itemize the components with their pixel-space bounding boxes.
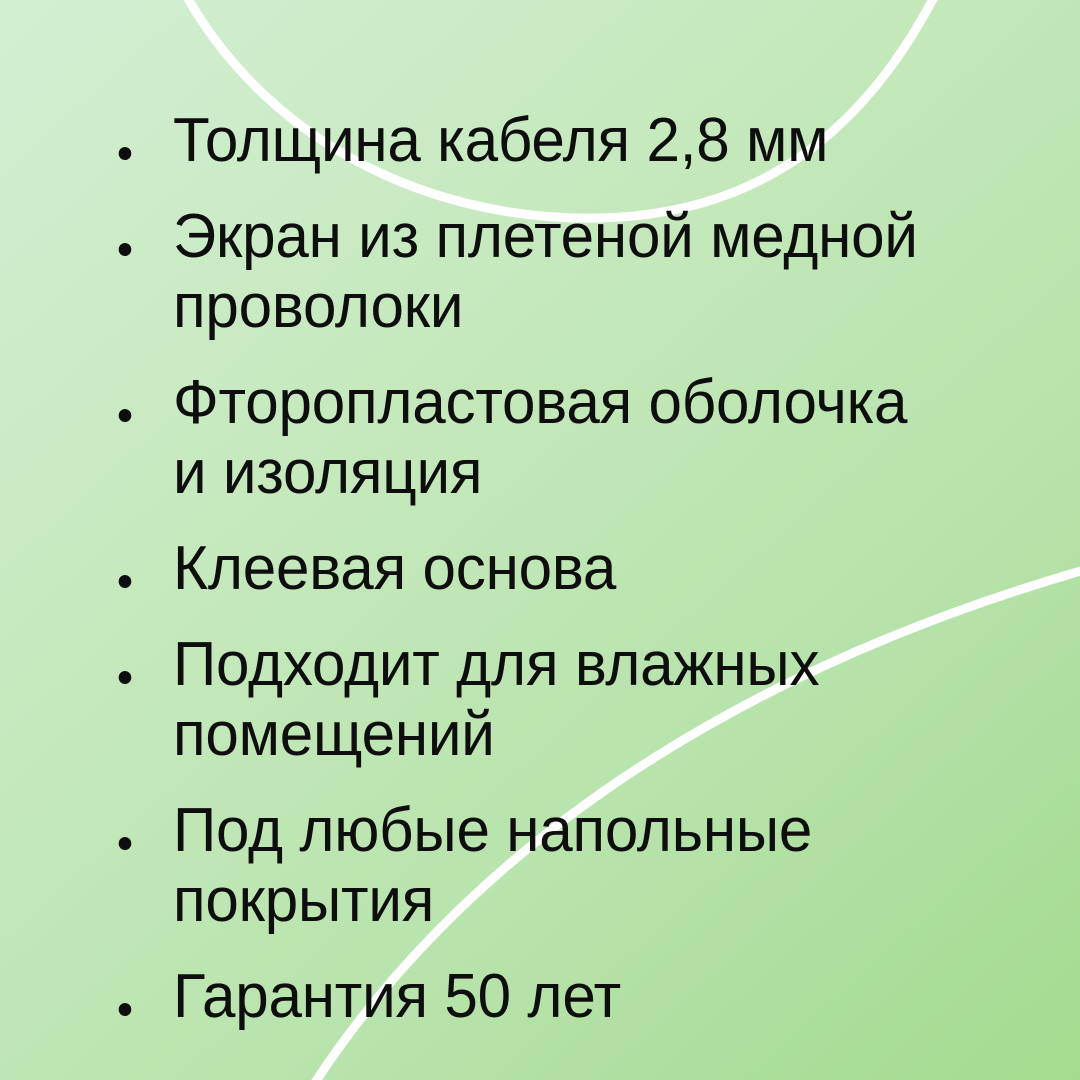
bullet-text: Экран из плетеной медной проволоки xyxy=(173,202,981,342)
bullet-dot-icon xyxy=(119,837,132,850)
list-item: Подходит для влажных помещений xyxy=(108,630,981,770)
list-item: Фторопластовая оболочка и изоляция xyxy=(108,368,981,508)
bullet-dot-icon xyxy=(119,671,132,684)
bullet-text: Толщина кабеля 2,8 мм xyxy=(173,106,981,176)
bullet-text: Клеевая основа xyxy=(173,534,981,604)
list-item: Клеевая основа xyxy=(108,534,981,604)
slide-canvas: Толщина кабеля 2,8 мм Экран из плетеной … xyxy=(0,0,1080,1080)
list-item: Экран из плетеной медной проволоки xyxy=(108,202,981,342)
bullet-text: Под любые напольные покрытия xyxy=(173,796,981,936)
feature-bullet-list: Толщина кабеля 2,8 мм Экран из плетеной … xyxy=(108,106,1008,1032)
bullet-dot-icon xyxy=(119,1003,132,1016)
bullet-text: Гарантия 50 лет xyxy=(173,962,981,1032)
list-item: Толщина кабеля 2,8 мм xyxy=(108,106,981,176)
bullet-dot-icon xyxy=(119,243,132,256)
bullet-dot-icon xyxy=(119,575,132,588)
bullet-dot-icon xyxy=(119,147,132,160)
list-item: Гарантия 50 лет xyxy=(108,962,981,1032)
list-item: Под любые напольные покрытия xyxy=(108,796,981,936)
bullet-dot-icon xyxy=(119,409,132,422)
bullet-text: Подходит для влажных помещений xyxy=(173,630,981,770)
bullet-text: Фторопластовая оболочка и изоляция xyxy=(173,368,981,508)
